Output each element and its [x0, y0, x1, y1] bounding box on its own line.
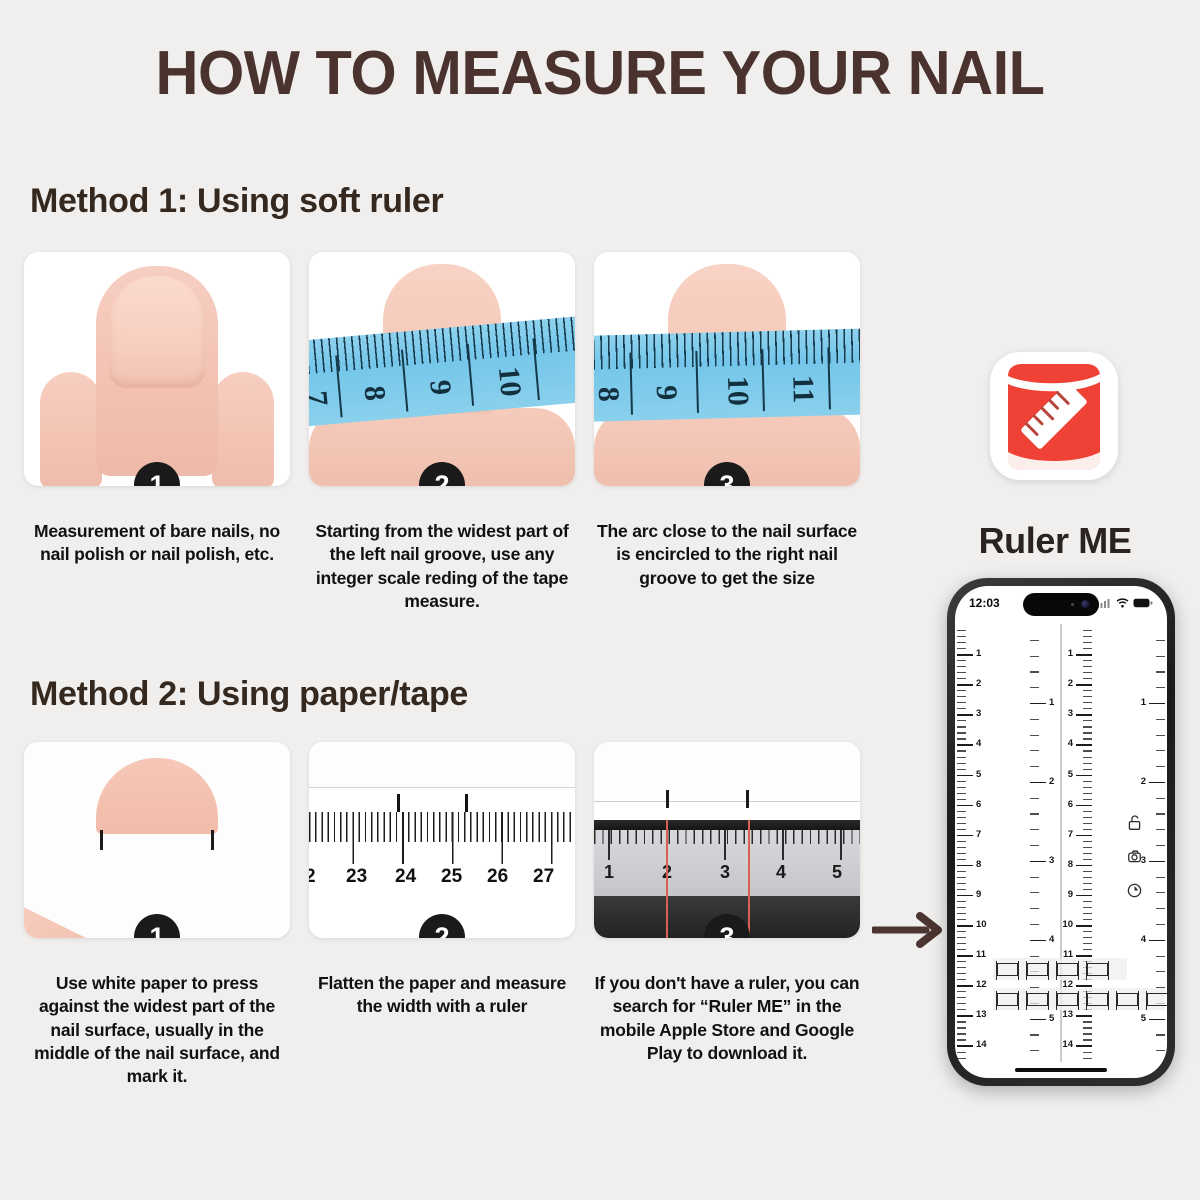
scale-minor-tick	[1083, 757, 1092, 758]
guide-line-right	[748, 820, 750, 938]
scale-major-tick	[1076, 835, 1092, 837]
scale-minor-tick	[1083, 793, 1092, 794]
bare-fingernail-photo: 1	[24, 252, 290, 486]
measure-bracket[interactable]	[1057, 963, 1078, 976]
scale-minor-tick	[1083, 949, 1092, 950]
scale-minor-tick	[957, 660, 966, 661]
scale-minor-tick	[1083, 1027, 1092, 1028]
scale-minor-tick	[1156, 877, 1165, 878]
method-1-heading: Method 1: Using soft ruler	[30, 182, 443, 221]
scale-minor-tick	[957, 642, 966, 643]
tape-number: 10	[720, 375, 755, 406]
scale-minor-tick	[1083, 732, 1092, 733]
scale-minor-tick	[957, 901, 966, 902]
scale-minor-tick	[1030, 719, 1039, 720]
scale-minor-tick	[1156, 640, 1165, 641]
scale-minor-tick	[1083, 642, 1092, 643]
scale-minor-tick	[957, 763, 966, 764]
scale-minor-tick	[1030, 687, 1039, 688]
scale-minor-tick	[1030, 892, 1039, 893]
scale-minor-tick	[1156, 813, 1165, 814]
scale-minor-tick	[1083, 726, 1092, 727]
ruler-top-edge	[594, 820, 860, 830]
scale-minor-tick	[1083, 763, 1092, 764]
scale-minor-tick	[957, 817, 966, 818]
scale-minor-tick	[957, 720, 966, 721]
measure-bracket[interactable]	[997, 963, 1018, 976]
scale-major-tick	[1030, 940, 1046, 942]
scale-number: 12	[976, 979, 987, 990]
scale-major-tick	[1149, 1019, 1165, 1021]
scale-major-tick	[1076, 1045, 1092, 1047]
scale-minor-tick	[957, 769, 966, 770]
scale-minor-tick	[1083, 859, 1092, 860]
ruler-label: 2	[309, 866, 316, 888]
scale-minor-tick	[1083, 769, 1092, 770]
scale-minor-tick	[1030, 798, 1039, 799]
scale-minor-tick	[957, 1058, 966, 1059]
tool-buttons	[1126, 814, 1143, 899]
scale-minor-tick	[957, 1003, 966, 1004]
measure-bracket-row[interactable]	[993, 958, 1127, 980]
scale-minor-tick	[957, 997, 966, 998]
scale-minor-tick	[1083, 847, 1092, 848]
scale-major-tick	[1030, 861, 1046, 863]
scale-major-tick	[1076, 684, 1092, 686]
step-caption: Flatten the paper and measure the width …	[309, 972, 575, 1019]
tape-number: 9	[422, 379, 457, 397]
scale-minor-tick	[957, 877, 966, 878]
page-title: HOW TO MEASURE YOUR NAIL	[24, 38, 1176, 109]
ruler-label: 23	[346, 866, 367, 888]
scale-major-tick	[1076, 985, 1092, 987]
scale-number: 13	[1062, 1009, 1073, 1020]
scale-minor-tick	[1083, 943, 1092, 944]
blue-tape-measure: 8 9 10 11	[594, 328, 860, 422]
dynamic-island	[1023, 593, 1099, 616]
scale-number: 3	[976, 708, 981, 719]
phone-mockup: 12:03	[947, 578, 1175, 1086]
scale-minor-tick	[957, 979, 966, 980]
scale-major-tick	[1076, 925, 1092, 927]
method-2-heading: Method 2: Using paper/tape	[30, 675, 468, 714]
scale-minor-tick	[957, 1027, 966, 1028]
scale-number: 5	[1068, 769, 1073, 780]
pen-mark-right	[465, 794, 468, 812]
scale-minor-tick	[957, 678, 966, 679]
scale-major-tick	[957, 714, 973, 716]
scale-minor-tick	[1083, 666, 1092, 667]
scale-minor-tick	[1030, 908, 1039, 909]
ruler-number-labels: 2 23 24 25 26 27	[309, 866, 575, 896]
scale-minor-tick	[957, 871, 966, 872]
pen-mark-right	[746, 790, 749, 808]
pen-mark-left	[100, 830, 103, 850]
scale-minor-tick	[1083, 690, 1092, 691]
measure-bracket[interactable]	[997, 993, 1018, 1006]
scale-minor-tick	[1083, 907, 1092, 908]
scale-minor-tick	[957, 841, 966, 842]
scale-minor-tick	[1083, 678, 1092, 679]
tape-number: 10	[491, 365, 527, 398]
scale-minor-tick	[1083, 636, 1092, 637]
wifi-icon	[1116, 598, 1129, 608]
scale-minor-tick	[957, 991, 966, 992]
guide-line-left	[666, 820, 668, 938]
front-camera-icon	[1081, 600, 1090, 609]
scale-number: 11	[976, 949, 986, 960]
step-caption: Measurement of bare nails, no nail polis…	[24, 520, 290, 567]
scale-minor-tick	[1156, 924, 1165, 925]
scale-minor-tick	[1083, 630, 1092, 631]
scale-minor-tick	[957, 823, 966, 824]
scale-major-tick	[957, 985, 973, 987]
scale-major-tick	[1149, 782, 1165, 784]
scale-minor-tick	[1083, 889, 1092, 890]
scale-minor-tick	[1030, 845, 1039, 846]
scale-minor-tick	[957, 919, 966, 920]
scale-minor-tick	[1083, 913, 1092, 914]
scale-minor-tick	[1083, 750, 1092, 751]
method-1-step-2: 7 8 9 10 2 Starting from the widest part…	[309, 252, 575, 613]
ruler-major-ticks	[309, 812, 575, 864]
ruler-label: 24	[395, 866, 416, 888]
scale-major-tick	[1076, 865, 1092, 867]
scale-minor-tick	[1083, 799, 1092, 800]
scale-minor-tick	[1083, 841, 1092, 842]
sensor-dot-icon	[1071, 603, 1075, 607]
scale-minor-tick	[1156, 798, 1165, 799]
scale-minor-tick	[1156, 750, 1165, 751]
timer-icon[interactable]	[1126, 882, 1143, 899]
paper-strip	[594, 742, 860, 802]
scale-minor-tick	[957, 630, 966, 631]
scale-number: 14	[1062, 1039, 1073, 1050]
scale-minor-tick	[1083, 696, 1092, 697]
scale-major-tick	[957, 835, 973, 837]
ruler-label: 4	[776, 862, 786, 883]
scale-minor-tick	[957, 829, 966, 830]
scale-major-tick	[957, 865, 973, 867]
scale-minor-tick	[1030, 735, 1039, 736]
scale-minor-tick	[957, 648, 966, 649]
scale-minor-tick	[957, 757, 966, 758]
scale-minor-tick	[1156, 845, 1165, 846]
scale-number: 4	[1068, 738, 1073, 749]
scale-minor-tick	[1156, 908, 1165, 909]
ruler-app-icon[interactable]	[990, 352, 1118, 480]
scale-minor-tick	[957, 973, 966, 974]
lock-icon[interactable]	[1126, 814, 1143, 831]
pen-mark-left	[666, 790, 669, 808]
ruler-label: 5	[832, 862, 842, 883]
scale-minor-tick	[1083, 702, 1092, 703]
scale-minor-tick	[957, 702, 966, 703]
scale-minor-tick	[1083, 817, 1092, 818]
scale-major-tick	[1076, 955, 1092, 957]
scale-minor-tick	[957, 1033, 966, 1034]
nail-pressed-on-white-paper-photo: 1	[24, 742, 290, 938]
scale-number: 8	[1068, 859, 1073, 870]
app-name-label: Ruler ME	[930, 520, 1180, 562]
tape-number: 7	[309, 389, 334, 407]
ruler-label: 27	[533, 866, 554, 888]
scale-minor-tick	[1030, 829, 1039, 830]
scale-minor-tick	[1156, 956, 1165, 957]
scale-minor-tick	[957, 859, 966, 860]
scale-minor-tick	[1083, 720, 1092, 721]
scale-minor-tick	[957, 889, 966, 890]
scale-major-tick	[1076, 744, 1092, 746]
scale-minor-tick	[1156, 829, 1165, 830]
measure-bracket[interactable]	[1087, 963, 1108, 976]
scale-minor-tick	[957, 913, 966, 914]
scale-minor-tick	[957, 726, 966, 727]
tape-number: 8	[357, 384, 392, 402]
scale-major-tick	[1076, 714, 1092, 716]
scale-number: 10	[1062, 919, 1073, 930]
home-indicator-bar[interactable]	[1015, 1068, 1107, 1072]
scale-minor-tick	[957, 1021, 966, 1022]
method-2-step-1: 1 Use white paper to press against the w…	[24, 742, 290, 1088]
scale-minor-tick	[957, 883, 966, 884]
scale-minor-tick	[1156, 1050, 1165, 1051]
scale-minor-tick	[1030, 766, 1039, 767]
finger-shape	[96, 266, 218, 476]
scale-minor-tick	[1083, 1058, 1092, 1059]
scale-major-tick	[957, 654, 973, 656]
scale-minor-tick	[1156, 766, 1165, 767]
scale-minor-tick	[1083, 901, 1092, 902]
scale-minor-tick	[957, 811, 966, 812]
scale-major-tick	[957, 744, 973, 746]
scale-number: 1	[1049, 697, 1054, 708]
knuckle-right-shape	[212, 372, 274, 486]
scale-minor-tick	[1083, 1039, 1092, 1040]
scale-major-tick	[1076, 654, 1092, 656]
scale-minor-tick	[1083, 931, 1092, 932]
ruler-label: 3	[720, 862, 730, 883]
scale-minor-tick	[957, 750, 966, 751]
scale-minor-tick	[957, 636, 966, 637]
scale-minor-tick	[1083, 648, 1092, 649]
scale-minor-tick	[1030, 656, 1039, 657]
scale-number: 9	[976, 889, 981, 900]
measure-bracket[interactable]	[1147, 993, 1167, 1006]
hard-ruler-on-paper-photo: 1 2 3 4 5 3	[594, 742, 860, 938]
tape-number: 8	[594, 386, 625, 402]
scale-minor-tick	[957, 907, 966, 908]
scale-minor-tick	[1083, 660, 1092, 661]
scale-major-tick	[1030, 703, 1046, 705]
scale-minor-tick	[1083, 738, 1092, 739]
scale-number: 1	[1141, 697, 1146, 708]
scale-minor-tick	[957, 781, 966, 782]
ruler-label: 25	[441, 866, 462, 888]
scale-major-tick	[1149, 703, 1165, 705]
scale-minor-tick	[1083, 871, 1092, 872]
scale-number: 4	[976, 738, 981, 749]
scale-minor-tick	[957, 708, 966, 709]
scale-minor-tick	[1030, 924, 1039, 925]
scale-minor-tick	[1156, 671, 1165, 672]
scale-minor-tick	[957, 949, 966, 950]
scale-minor-tick	[1030, 877, 1039, 878]
scale-minor-tick	[957, 967, 966, 968]
scale-major-tick	[957, 895, 973, 897]
step-caption: Use white paper to press against the wid…	[24, 972, 290, 1088]
scale-minor-tick	[1083, 829, 1092, 830]
scale-number: 5	[1141, 1013, 1146, 1024]
scale-minor-tick	[957, 666, 966, 667]
scale-major-tick	[1030, 1019, 1046, 1021]
ruler-app-icon-container[interactable]	[990, 352, 1118, 480]
tape-number: 11	[785, 375, 820, 404]
scale-major-tick	[957, 925, 973, 927]
step-caption: Starting from the widest part of the lef…	[309, 520, 575, 613]
signal-bars-icon	[1097, 598, 1112, 608]
ruler-label: 26	[487, 866, 508, 888]
scale-number: 3	[1068, 708, 1073, 719]
ruler-label: 1	[604, 862, 614, 883]
scale-minor-tick	[1083, 781, 1092, 782]
scale-minor-tick	[1030, 813, 1039, 814]
scale-number: 1	[1068, 648, 1073, 659]
scale-minor-tick	[957, 738, 966, 739]
scale-minor-tick	[1156, 971, 1165, 972]
scale-minor-tick	[1156, 719, 1165, 720]
knuckle-left-shape	[40, 372, 102, 486]
camera-icon[interactable]	[1126, 848, 1143, 865]
scale-major-tick	[1149, 940, 1165, 942]
scale-number: 6	[1068, 799, 1073, 810]
measure-bracket[interactable]	[1117, 993, 1138, 1006]
measure-bracket[interactable]	[1027, 993, 1048, 1006]
method-2-step-2: 2 23 24 25 26 27 2 Flatten the paper and…	[309, 742, 575, 1019]
scale-minor-tick	[1083, 919, 1092, 920]
scale-number: 2	[1141, 776, 1146, 787]
scale-major-tick	[1076, 805, 1092, 807]
scale-minor-tick	[957, 672, 966, 673]
scale-number: 8	[976, 859, 981, 870]
scale-minor-tick	[957, 943, 966, 944]
scale-minor-tick	[1156, 735, 1165, 736]
scale-minor-tick	[1030, 640, 1039, 641]
scale-minor-tick	[1030, 1034, 1039, 1035]
scale-major-tick	[957, 805, 973, 807]
measure-bracket[interactable]	[1087, 993, 1108, 1006]
scale-number: 13	[976, 1009, 987, 1020]
scale-minor-tick	[957, 793, 966, 794]
finger-with-blue-tape-measure-photo: 7 8 9 10 2	[309, 252, 575, 486]
scale-number: 4	[1049, 934, 1054, 945]
scale-major-tick	[957, 955, 973, 957]
scale-minor-tick	[1083, 811, 1092, 812]
nail-plate-shape	[109, 276, 205, 388]
step-caption: The arc close to the nail surface is enc…	[594, 520, 860, 590]
scale-minor-tick	[957, 696, 966, 697]
scale-major-tick	[957, 684, 973, 686]
measure-bracket[interactable]	[1027, 963, 1048, 976]
scale-minor-tick	[1083, 708, 1092, 709]
scale-minor-tick	[957, 853, 966, 854]
scale-minor-tick	[957, 787, 966, 788]
scale-number: 5	[1049, 1013, 1054, 1024]
scale-minor-tick	[1030, 1050, 1039, 1051]
tape-numbers: 8 9 10 11	[594, 358, 860, 422]
scale-number: 7	[976, 829, 981, 840]
method-1-step-1: 1 Measurement of bare nails, no nail pol…	[24, 252, 290, 567]
scale-number: 2	[1068, 678, 1073, 689]
scale-minor-tick	[1030, 671, 1039, 672]
scale-minor-tick	[957, 961, 966, 962]
scale-major-tick	[957, 1045, 973, 1047]
pen-mark-left	[397, 794, 400, 812]
tape-wrapped-around-fingertip-photo: 8 9 10 11 3	[594, 252, 860, 486]
tape-number: 9	[649, 385, 683, 401]
ruler-major-ticks	[608, 830, 860, 860]
scale-number: 3	[1049, 855, 1054, 866]
scale-minor-tick	[957, 690, 966, 691]
scale-number: 10	[976, 919, 987, 930]
scale-major-tick	[1030, 782, 1046, 784]
phone-screen[interactable]: 12:03	[955, 586, 1167, 1078]
scale-major-tick	[957, 1015, 973, 1017]
scale-minor-tick	[1083, 937, 1092, 938]
scale-minor-tick	[1156, 687, 1165, 688]
scale-minor-tick	[1156, 1034, 1165, 1035]
scale-major-tick	[1076, 895, 1092, 897]
scale-number: 4	[1141, 934, 1146, 945]
scale-minor-tick	[957, 732, 966, 733]
scale-minor-tick	[1083, 1033, 1092, 1034]
scale-minor-tick	[1030, 750, 1039, 751]
scale-major-tick	[957, 775, 973, 777]
scale-minor-tick	[957, 799, 966, 800]
scale-minor-tick	[1030, 956, 1039, 957]
scale-minor-tick	[1083, 877, 1092, 878]
scale-number: 9	[1068, 889, 1073, 900]
paper-ruler-measurement-photo: 2 23 24 25 26 27 2	[309, 742, 575, 938]
scale-number: 7	[1068, 829, 1073, 840]
paper-edge-line	[309, 742, 575, 788]
scale-minor-tick	[1156, 656, 1165, 657]
scale-minor-tick	[1083, 853, 1092, 854]
method-2-step-3: 1 2 3 4 5 3 If you don't have a ruler, y…	[594, 742, 860, 1065]
method-1-step-3: 8 9 10 11 3 The arc close to the nail su…	[594, 252, 860, 590]
scale-major-tick	[1076, 1015, 1092, 1017]
pen-mark-right	[211, 830, 214, 850]
scale-minor-tick	[1156, 892, 1165, 893]
scale-minor-tick	[957, 931, 966, 932]
scale-number: 2	[976, 678, 981, 689]
scale-number: 5	[976, 769, 981, 780]
scale-minor-tick	[1083, 1021, 1092, 1022]
scale-minor-tick	[1083, 672, 1092, 673]
ruler-body: 1 2 3 4 5	[594, 830, 860, 896]
scale-minor-tick	[1083, 883, 1092, 884]
scale-minor-tick	[957, 1052, 966, 1053]
scale-number: 1	[976, 648, 981, 659]
scale-major-tick	[1076, 775, 1092, 777]
scale-minor-tick	[957, 1009, 966, 1010]
scale-minor-tick	[957, 937, 966, 938]
measure-bracket[interactable]	[1057, 993, 1078, 1006]
measure-bracket-row[interactable]	[993, 988, 1165, 1010]
scale-minor-tick	[1083, 787, 1092, 788]
battery-icon	[1133, 598, 1153, 608]
scale-minor-tick	[1083, 1052, 1092, 1053]
